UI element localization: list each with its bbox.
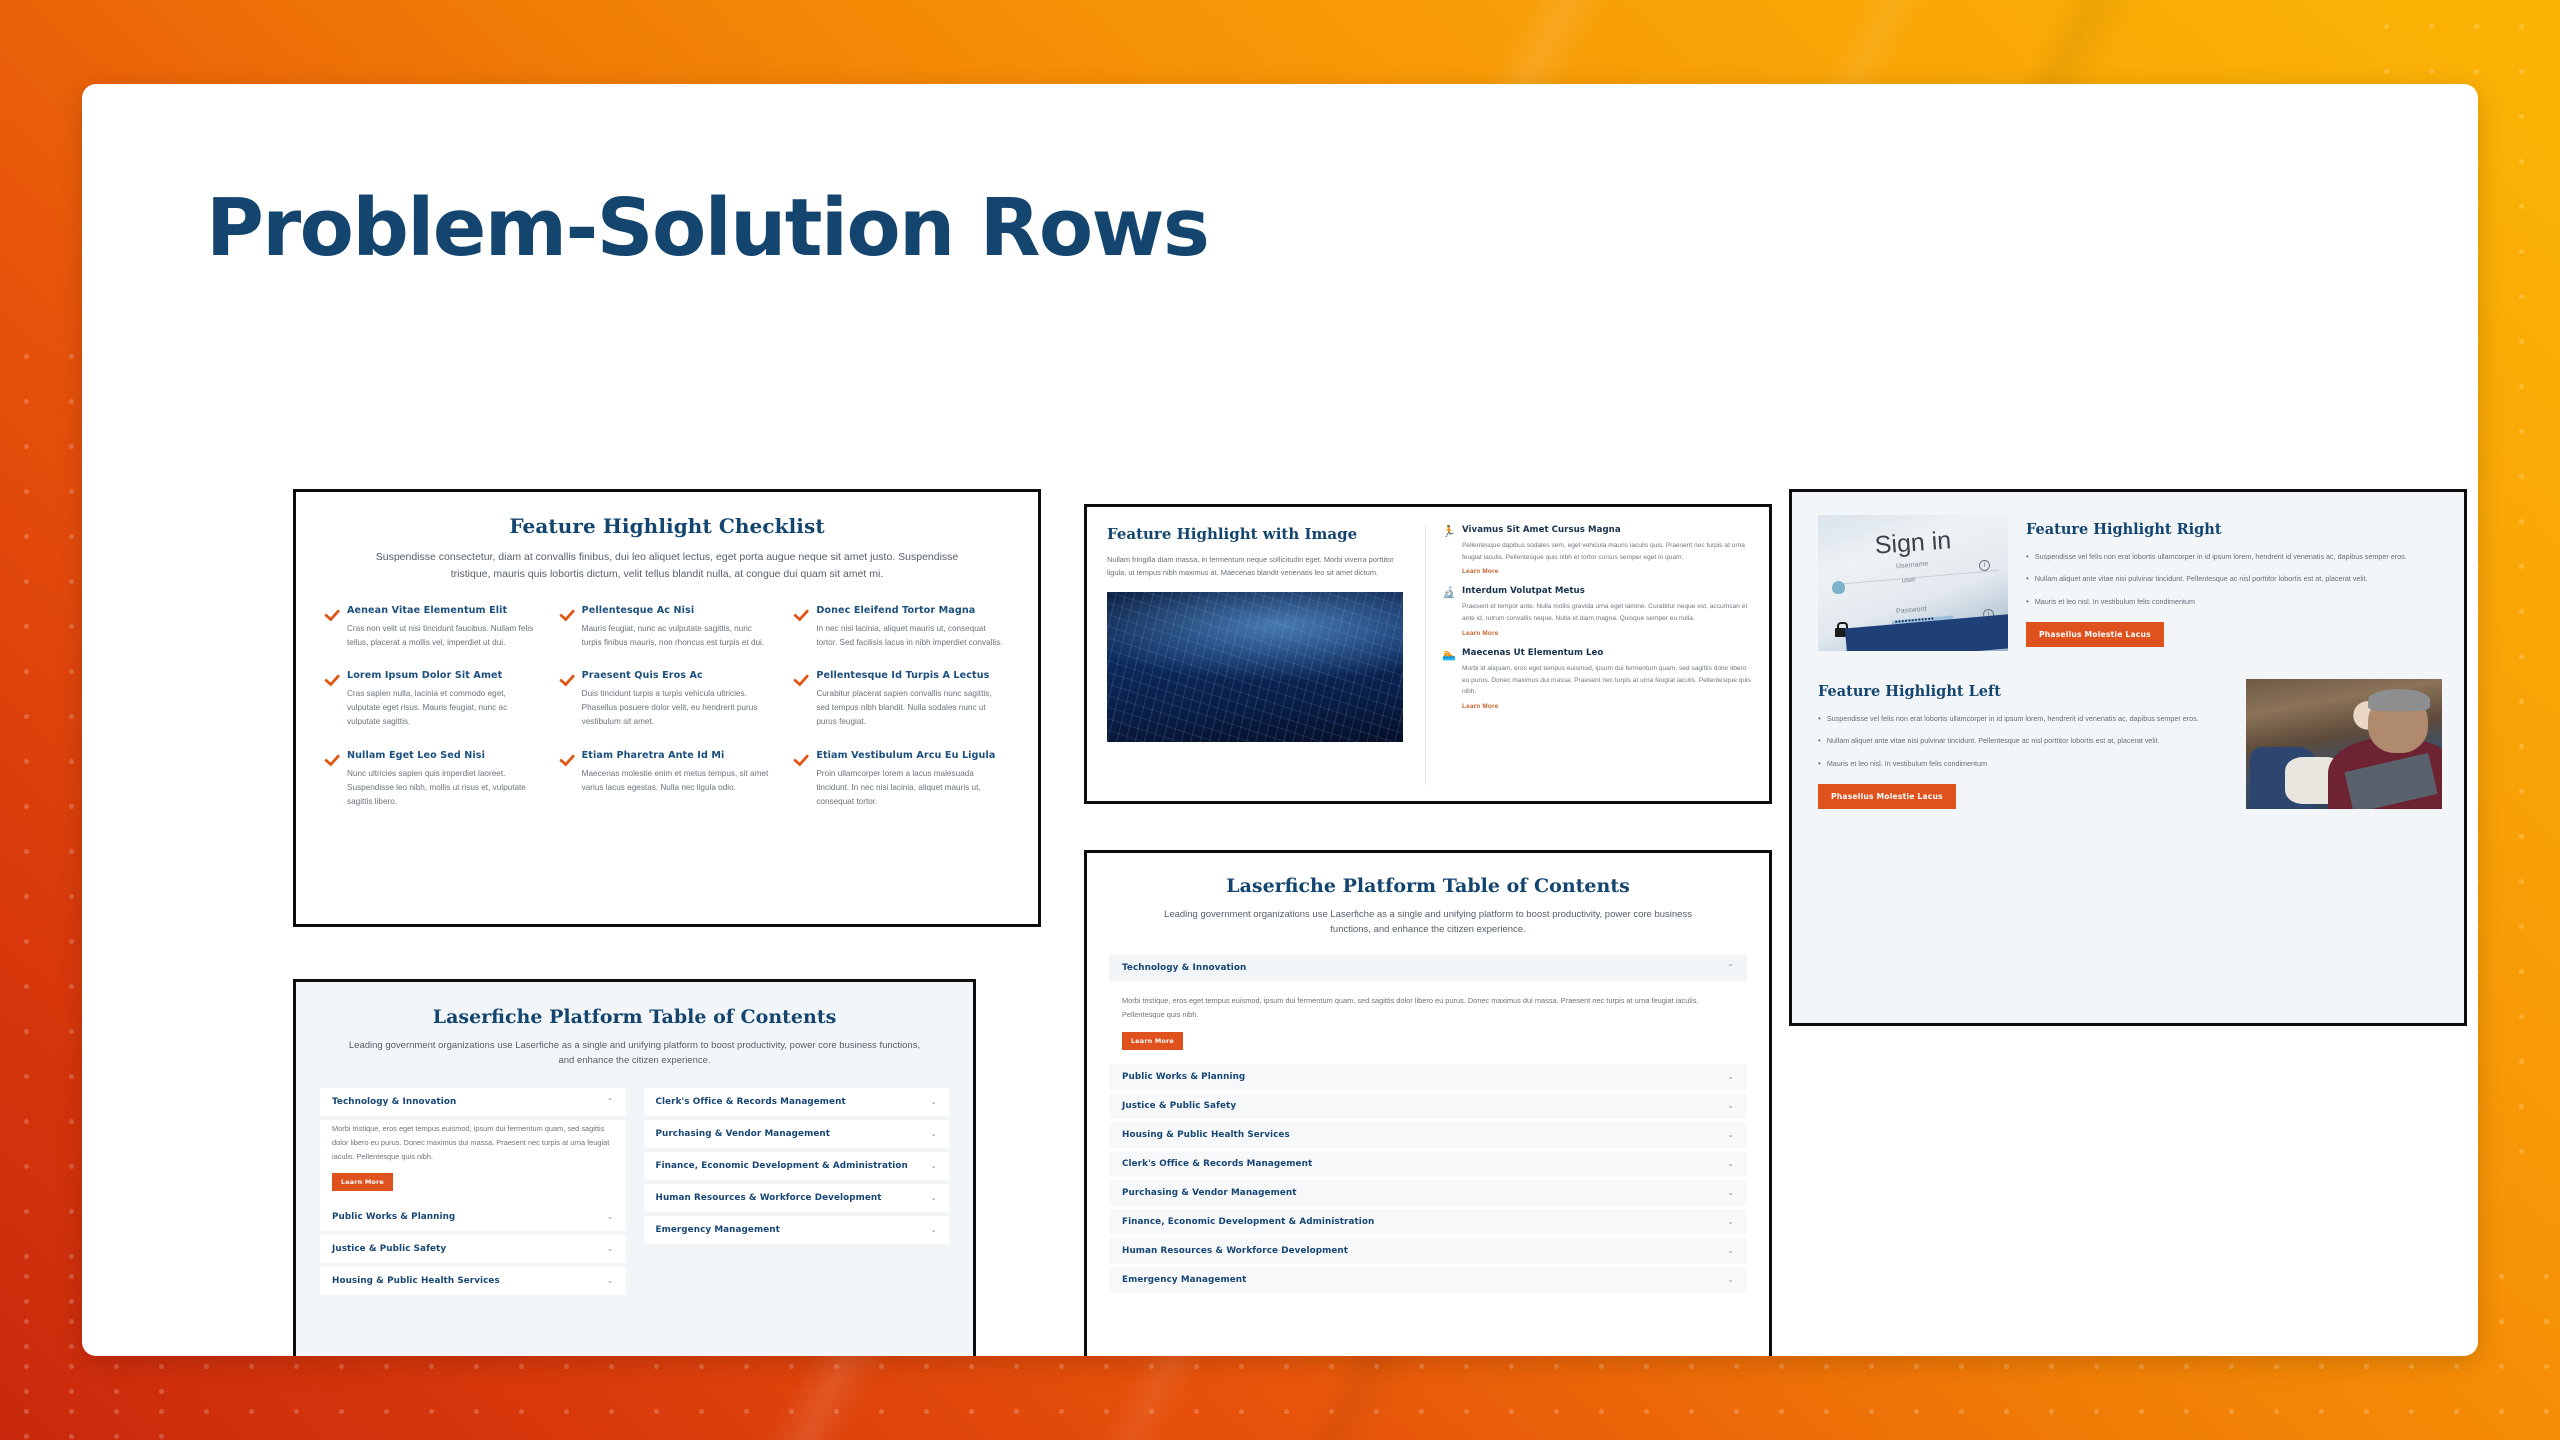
accordion-header[interactable]: Human Resources & Workforce Development⌄	[644, 1184, 950, 1212]
checklist-item: Pellentesque Ac NisiMauris feugiat, nunc…	[559, 605, 770, 650]
chevron-down-icon[interactable]: ⌄	[930, 1194, 937, 1202]
accordion-header[interactable]: Public Works & Planning⌄	[320, 1203, 626, 1231]
bullet-icon: •	[2026, 550, 2029, 564]
learn-more-button[interactable]: Learn More	[332, 1173, 393, 1191]
checklist-subtitle: Suspendisse consectetur, diam at convall…	[358, 549, 976, 583]
image-card-feature-row: 🔬Interdum Volutpat MetusPraesent et temp…	[1442, 586, 1751, 636]
accordion-header[interactable]: Justice & Public Safety⌄	[320, 1235, 626, 1263]
accordion-label: Justice & Public Safety	[332, 1244, 446, 1254]
learn-more-link[interactable]: Learn More	[1462, 703, 1751, 710]
highlight-right-title: Feature Highlight Right	[2026, 521, 2442, 538]
accordion-header[interactable]: Finance, Economic Development & Administ…	[1109, 1209, 1747, 1235]
chevron-down-icon[interactable]: ⌄	[607, 1245, 614, 1253]
checklist-item-text: Duis tincidunt turpis a turpis vehicula …	[582, 687, 770, 729]
image-card-feature-list: 🏃Vivamus Sit Amet Cursus MagnaPellentesq…	[1425, 525, 1751, 785]
toc-one-subtitle: Leading government organizations use Las…	[1149, 907, 1707, 937]
chevron-down-icon[interactable]: ⌄	[930, 1130, 937, 1138]
image-card-left-column: Feature Highlight with Image Nullam frin…	[1107, 525, 1403, 785]
toc-two-right-column: Clerk's Office & Records Management⌄Purc…	[644, 1088, 950, 1299]
chevron-down-icon[interactable]: ⌄	[930, 1226, 937, 1234]
highlight-right-bullet-text: Suspendisse vel felis non erat lobortis …	[2035, 550, 2407, 564]
checklist-item: Praesent Quis Eros AcDuis tincidunt turp…	[559, 670, 770, 729]
slide-panel: Problem-Solution Rows Feature Highlight …	[82, 84, 2478, 1356]
checklist-item: Donec Eleifend Tortor MagnaIn nec nisi l…	[793, 605, 1004, 650]
chevron-down-icon[interactable]: ⌄	[1727, 1276, 1734, 1284]
toc-one-header: Laserfiche Platform Table of Contents Le…	[1087, 853, 1769, 937]
accordion-header[interactable]: Technology & Innovation⌃	[320, 1088, 626, 1116]
accordion-header[interactable]: Purchasing & Vendor Management⌄	[644, 1120, 950, 1148]
chevron-down-icon[interactable]: ⌄	[1727, 1131, 1734, 1139]
image-card-intro: Nullam fringilla diam massa, in fermentu…	[1107, 553, 1403, 580]
laserfiche-toc-two-column-card: Laserfiche Platform Table of Contents Le…	[293, 979, 976, 1356]
check-icon	[793, 606, 808, 621]
accordion-label: Housing & Public Health Services	[332, 1276, 500, 1286]
bullet-icon: •	[2026, 572, 2029, 586]
accordion-label: Justice & Public Safety	[1122, 1101, 1236, 1111]
checklist-item-heading: Donec Eleifend Tortor Magna	[816, 605, 1004, 616]
accordion-label: Housing & Public Health Services	[1122, 1130, 1290, 1140]
sign-in-screen-photo: Sign in Username user Password i i	[1818, 515, 2008, 651]
sign-in-heading: Sign in	[1874, 526, 1952, 560]
feature-highlight-checklist-card: Feature Highlight Checklist Suspendisse …	[293, 489, 1041, 927]
checklist-item-heading: Pellentesque Ac Nisi	[582, 605, 770, 616]
accordion-label: Human Resources & Workforce Development	[656, 1193, 882, 1203]
checklist-item: Nullam Eget Leo Sed NisiNunc ultricies s…	[324, 750, 535, 809]
highlight-right-bullet: •Suspendisse vel felis non erat lobortis…	[2026, 550, 2442, 564]
man-using-tablet-photo	[2246, 679, 2442, 809]
highlight-right-bullets: •Suspendisse vel felis non erat lobortis…	[2026, 550, 2442, 609]
accordion-header[interactable]: Housing & Public Health Services⌄	[1109, 1122, 1747, 1148]
accordion-header[interactable]: Human Resources & Workforce Development⌄	[1109, 1238, 1747, 1264]
highlight-right-bullet-text: Mauris et leo nisl. In vestibulum felis …	[2035, 595, 2195, 609]
accordion-label: Finance, Economic Development & Administ…	[1122, 1217, 1374, 1227]
checklist-item: Etiam Vestibulum Arcu Eu LigulaProin ull…	[793, 750, 1004, 809]
password-label: Password	[1896, 606, 1927, 616]
highlight-right-bullet: •Mauris et leo nisl. In vestibulum felis…	[2026, 595, 2442, 609]
username-value: user	[1902, 576, 1916, 584]
highlight-left-title: Feature Highlight Left	[1818, 683, 2228, 700]
image-card-feature-heading: Maecenas Ut Elementum Leo	[1462, 648, 1751, 658]
highlight-left-bullet: •Nullam aliquet ante vitae nisi pulvinar…	[1818, 734, 2228, 748]
checklist-item-text: Curabitur placerat sapien convallis nunc…	[816, 687, 1004, 729]
highlight-left-bullets: •Suspendisse vel felis non erat lobortis…	[1818, 712, 2228, 771]
learn-more-button[interactable]: Learn More	[1122, 1032, 1183, 1050]
user-icon	[1832, 581, 1845, 594]
check-icon	[559, 751, 574, 766]
accordion-header[interactable]: Emergency Management⌄	[644, 1216, 950, 1244]
accordion-label: Public Works & Planning	[1122, 1072, 1245, 1082]
highlight-left-cta-button[interactable]: Phasellus Molestie Lacus	[1818, 784, 1956, 809]
checklist-item: Aenean Vitae Elementum ElitCras non veli…	[324, 605, 535, 650]
highlight-right-bullet-text: Nullam aliquet ante vitae nisi pulvinar …	[2035, 572, 2368, 586]
accordion-body-text: Morbi tristique, eros eget tempus euismo…	[1122, 994, 1734, 1021]
check-icon	[559, 606, 574, 621]
check-icon	[793, 751, 808, 766]
accordion-label: Purchasing & Vendor Management	[656, 1129, 831, 1139]
checklist-item-heading: Etiam Pharetra Ante Id Mi	[582, 750, 770, 761]
toc-one-accordion-list: Technology & Innovation⌃Morbi tristique,…	[1087, 937, 1769, 1292]
checklist-title: Feature Highlight Checklist	[358, 514, 976, 538]
checklist-item-text: Mauris feugiat, nunc ac vulputate sagitt…	[582, 622, 770, 650]
feature-highlight-right-left-card: Sign in Username user Password i i Featu…	[1789, 489, 2467, 1026]
accordion-label: Technology & Innovation	[1122, 963, 1246, 973]
accordion-header[interactable]: Finance, Economic Development & Administ…	[644, 1152, 950, 1180]
bullet-icon: •	[1818, 734, 1821, 748]
username-label: Username	[1896, 561, 1929, 571]
person-hair-shape	[2368, 689, 2431, 711]
image-card-feature-heading: Vivamus Sit Amet Cursus Magna	[1462, 525, 1751, 535]
bullet-icon: •	[2026, 595, 2029, 609]
accordion-label: Human Resources & Workforce Development	[1122, 1246, 1348, 1256]
accordion-label: Clerk's Office & Records Management	[656, 1097, 846, 1107]
chevron-down-icon[interactable]: ⌄	[607, 1213, 614, 1221]
check-icon	[559, 671, 574, 686]
checklist-item-heading: Pellentesque Id Turpis A Lectus	[816, 670, 1004, 681]
accordion-header[interactable]: Purchasing & Vendor Management⌄	[1109, 1180, 1747, 1206]
checklist-item: Lorem Ipsum Dolor Sit AmetCras sapien nu…	[324, 670, 535, 729]
check-icon	[324, 751, 339, 766]
checklist-item: Pellentesque Id Turpis A LectusCurabitur…	[793, 670, 1004, 729]
accordion-label: Emergency Management	[1122, 1275, 1246, 1285]
chevron-down-icon[interactable]: ⌄	[1727, 1102, 1734, 1110]
swimmer-icon: 🏊	[1442, 649, 1455, 662]
image-card-title: Feature Highlight with Image	[1107, 525, 1403, 543]
checklist-item-heading: Aenean Vitae Elementum Elit	[347, 605, 535, 616]
accordion-label: Finance, Economic Development & Administ…	[656, 1161, 908, 1171]
accordion-header[interactable]: Public Works & Planning⌄	[1109, 1064, 1747, 1090]
checklist-item-heading: Nullam Eget Leo Sed Nisi	[347, 750, 535, 761]
check-icon	[324, 606, 339, 621]
accordion-header[interactable]: Housing & Public Health Services⌄	[320, 1267, 626, 1295]
accordion-header[interactable]: Technology & Innovation⌃	[1109, 955, 1747, 981]
accordion-label: Technology & Innovation	[332, 1097, 456, 1107]
highlight-left-bullet-text: Mauris et leo nisl. In vestibulum felis …	[1827, 757, 1987, 771]
toc-two-subtitle: Leading government organizations use Las…	[344, 1038, 925, 1068]
check-icon	[324, 671, 339, 686]
chevron-down-icon[interactable]: ⌄	[1727, 1218, 1734, 1226]
checklist-item-text: Proin ullamcorper lorem a lacus malesuad…	[816, 767, 1004, 809]
chevron-down-icon[interactable]: ⌄	[1727, 1247, 1734, 1255]
chevron-down-icon[interactable]: ⌄	[1727, 1160, 1734, 1168]
chevron-down-icon[interactable]: ⌄	[1727, 1189, 1734, 1197]
bullet-icon: •	[1818, 757, 1821, 771]
image-card-feature-row: 🏊Maecenas Ut Elementum LeoMorbi id aliqu…	[1442, 648, 1751, 710]
accordion-body: Morbi tristique, eros eget tempus euismo…	[1109, 984, 1747, 1063]
abstract-network-photo	[1107, 592, 1403, 742]
accordion-label: Emergency Management	[656, 1225, 780, 1235]
checklist-item-text: Cras non velit ut nisi tincidunt faucibu…	[347, 622, 535, 650]
learn-more-link[interactable]: Learn More	[1462, 630, 1751, 637]
page-title: Problem-Solution Rows	[206, 182, 1208, 274]
image-card-feature-text: Morbi id aliquam, eros eget tempus euism…	[1462, 663, 1751, 698]
toc-two-left-column: Technology & Innovation⌃Morbi tristique,…	[320, 1088, 626, 1299]
chevron-down-icon[interactable]: ⌄	[930, 1098, 937, 1106]
accordion-body-text: Morbi tristique, eros eget tempus euismo…	[332, 1122, 614, 1163]
accordion-header[interactable]: Clerk's Office & Records Management⌄	[1109, 1151, 1747, 1177]
bullet-icon: •	[1818, 712, 1821, 726]
chevron-down-icon[interactable]: ⌄	[930, 1162, 937, 1170]
checklist-item: Etiam Pharetra Ante Id MiMaecenas molest…	[559, 750, 770, 809]
chevron-up-icon[interactable]: ⌃	[607, 1098, 614, 1106]
checklist-item-text: In nec nisi lacinia, aliquet mauris ut, …	[816, 622, 1004, 650]
image-card-feature-text: Pellentesque dapibus sodales sem, eget v…	[1462, 540, 1751, 563]
checklist-item-heading: Etiam Vestibulum Arcu Eu Ligula	[816, 750, 1004, 761]
checklist-item-text: Cras sapien nulla, lacinia et commodo eg…	[347, 687, 535, 729]
image-card-feature-row: 🏃Vivamus Sit Amet Cursus MagnaPellentesq…	[1442, 525, 1751, 575]
accordion-header[interactable]: Clerk's Office & Records Management⌄	[644, 1088, 950, 1116]
checklist-item-text: Nunc ultricies sapien quis imperdiet lao…	[347, 767, 535, 809]
chevron-up-icon[interactable]: ⌃	[1727, 964, 1734, 972]
person-running-icon: 🏃	[1442, 526, 1455, 539]
microscope-icon: 🔬	[1442, 587, 1455, 600]
learn-more-link[interactable]: Learn More	[1462, 568, 1751, 575]
checklist-header: Feature Highlight Checklist Suspendisse …	[296, 492, 1038, 583]
highlight-left-bullet: •Suspendisse vel felis non erat lobortis…	[1818, 712, 2228, 726]
toc-two-title: Laserfiche Platform Table of Contents	[344, 1006, 925, 1028]
accordion-header[interactable]: Emergency Management⌄	[1109, 1267, 1747, 1293]
highlight-right-bullet: •Nullam aliquet ante vitae nisi pulvinar…	[2026, 572, 2442, 586]
highlight-left-bullet-text: Suspendisse vel felis non erat lobortis …	[1827, 712, 2199, 726]
accordion-header[interactable]: Justice & Public Safety⌄	[1109, 1093, 1747, 1119]
chevron-down-icon[interactable]: ⌄	[1727, 1073, 1734, 1081]
accordion-label: Clerk's Office & Records Management	[1122, 1159, 1312, 1169]
image-card-feature-heading: Interdum Volutpat Metus	[1462, 586, 1751, 596]
toc-one-title: Laserfiche Platform Table of Contents	[1149, 875, 1707, 897]
info-icon: i	[1979, 560, 1990, 571]
highlight-left-bullet: •Mauris et leo nisl. In vestibulum felis…	[1818, 757, 2228, 771]
laserfiche-toc-single-column-card: Laserfiche Platform Table of Contents Le…	[1084, 850, 1772, 1356]
highlight-right-cta-button[interactable]: Phasellus Molestie Lacus	[2026, 622, 2164, 647]
feature-highlight-right-row: Sign in Username user Password i i Featu…	[1792, 492, 2464, 651]
feature-highlight-with-image-card: Feature Highlight with Image Nullam frin…	[1084, 504, 1772, 804]
checklist-grid: Aenean Vitae Elementum ElitCras non veli…	[296, 583, 1038, 827]
chevron-down-icon[interactable]: ⌄	[607, 1277, 614, 1285]
check-icon	[793, 671, 808, 686]
checklist-item-heading: Praesent Quis Eros Ac	[582, 670, 770, 681]
accordion-label: Public Works & Planning	[332, 1212, 455, 1222]
checklist-item-heading: Lorem Ipsum Dolor Sit Amet	[347, 670, 535, 681]
image-card-feature-text: Praesent et tempor ante. Nulla mollis gr…	[1462, 601, 1751, 624]
accordion-label: Purchasing & Vendor Management	[1122, 1188, 1297, 1198]
accordion-body: Morbi tristique, eros eget tempus euismo…	[320, 1120, 626, 1203]
highlight-left-bullet-text: Nullam aliquet ante vitae nisi pulvinar …	[1827, 734, 2160, 748]
feature-highlight-left-row: Feature Highlight Left •Suspendisse vel …	[1792, 651, 2464, 809]
checklist-item-text: Maecenas molestie enim et metus tempus, …	[582, 767, 770, 795]
toc-two-header: Laserfiche Platform Table of Contents Le…	[296, 982, 973, 1068]
